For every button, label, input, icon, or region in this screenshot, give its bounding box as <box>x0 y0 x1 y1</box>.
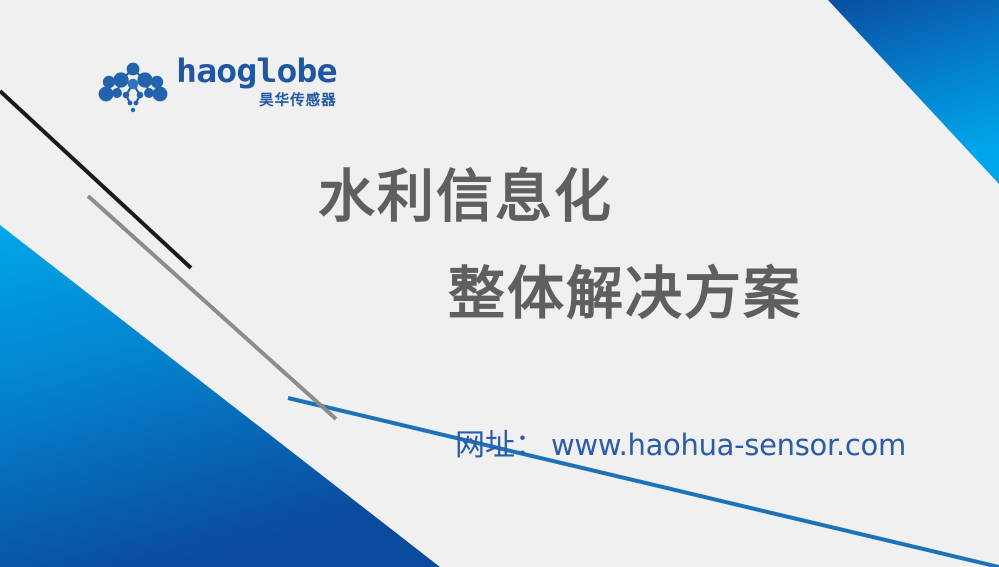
right-blue-wedge <box>828 0 999 184</box>
logo-text-group: haoglobe 昊华传感器 <box>176 56 337 109</box>
left-blue-wedge <box>0 225 440 567</box>
website-url[interactable]: www.haohua-sensor.com <box>551 428 906 462</box>
gray-diagonal-line <box>88 196 336 419</box>
title-slide: haoglobe 昊华传感器 水利信息化 整体解决方案 网址： www.haoh… <box>0 0 999 567</box>
slide-title-line-2: 整体解决方案 <box>448 265 802 325</box>
website-line: 网址： www.haohua-sensor.com <box>455 420 906 464</box>
company-logo: haoglobe 昊华传感器 <box>96 56 337 116</box>
website-label: 网址： <box>455 420 545 464</box>
logo-wordmark: haoglobe <box>176 56 337 88</box>
slide-title-line-1: 水利信息化 <box>318 168 613 228</box>
logo-subtitle: 昊华传感器 <box>259 94 337 109</box>
network-dots-icon <box>96 60 170 116</box>
black-diagonal-line <box>0 91 191 268</box>
